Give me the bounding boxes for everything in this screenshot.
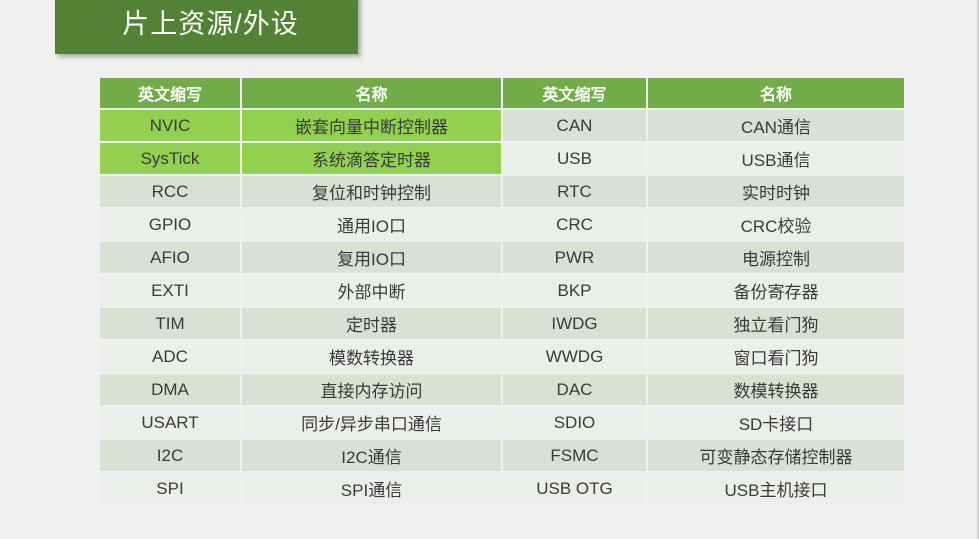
page-title: 片上资源/外设: [122, 11, 299, 38]
cell-right-abbr: USB OTG: [503, 473, 646, 504]
cell-right-abbr: SDIO: [503, 407, 646, 438]
cell-left-abbr: USART: [100, 407, 240, 438]
cell-right-abbr: FSMC: [503, 440, 646, 471]
table-row: I2CI2C通信FSMC可变静态存储控制器: [100, 440, 904, 471]
cell-right-abbr: RTC: [503, 176, 646, 207]
peripheral-table: 英文缩写 名称 英文缩写 名称 NVIC嵌套向量中断控制器CANCAN通信Sys…: [98, 76, 906, 506]
cell-right-abbr: DAC: [503, 374, 646, 405]
cell-left-abbr: EXTI: [100, 275, 240, 306]
column-header-right-abbr: 英文缩写: [503, 78, 646, 108]
cell-right-name: CAN通信: [648, 110, 904, 141]
table-row: TIM定时器IWDG独立看门狗: [100, 308, 904, 339]
cell-left-name: 复位和时钟控制: [242, 176, 501, 207]
table-row: AFIO复用IO口PWR电源控制: [100, 242, 904, 273]
cell-right-name: 备份寄存器: [648, 275, 904, 306]
table-row: GPIO通用IO口CRCCRC校验: [100, 209, 904, 240]
column-header-left-abbr: 英文缩写: [100, 78, 240, 108]
table-body: NVIC嵌套向量中断控制器CANCAN通信SysTick系统滴答定时器USBUS…: [100, 110, 904, 504]
table-row: SPISPI通信USB OTGUSB主机接口: [100, 473, 904, 504]
cell-left-abbr: I2C: [100, 440, 240, 471]
cell-left-name: 同步/异步串口通信: [242, 407, 501, 438]
table-row: ADC模数转换器WWDG窗口看门狗: [100, 341, 904, 372]
table-row: NVIC嵌套向量中断控制器CANCAN通信: [100, 110, 904, 141]
cell-left-abbr: NVIC: [100, 110, 240, 141]
cell-left-abbr: SPI: [100, 473, 240, 504]
cell-left-name: 复用IO口: [242, 242, 501, 273]
slide-canvas: 片上资源/外设 英文缩写 名称 英文缩写 名称 NVIC嵌套向量中断控制器CAN…: [0, 0, 979, 539]
table-row: DMA直接内存访问DAC数模转换器: [100, 374, 904, 405]
cell-right-abbr: CRC: [503, 209, 646, 240]
cell-left-abbr: RCC: [100, 176, 240, 207]
table-row: USART同步/异步串口通信SDIOSD卡接口: [100, 407, 904, 438]
cell-left-abbr: SysTick: [100, 143, 240, 174]
table-row: EXTI外部中断BKP备份寄存器: [100, 275, 904, 306]
cell-left-name: 系统滴答定时器: [242, 143, 501, 174]
table-header: 英文缩写 名称 英文缩写 名称: [100, 78, 904, 108]
cell-left-abbr: TIM: [100, 308, 240, 339]
cell-left-abbr: ADC: [100, 341, 240, 372]
cell-right-abbr: BKP: [503, 275, 646, 306]
cell-right-name: USB通信: [648, 143, 904, 174]
cell-left-name: 模数转换器: [242, 341, 501, 372]
column-header-right-name: 名称: [648, 78, 904, 108]
cell-right-abbr: WWDG: [503, 341, 646, 372]
cell-left-name: 定时器: [242, 308, 501, 339]
cell-left-abbr: GPIO: [100, 209, 240, 240]
cell-right-name: SD卡接口: [648, 407, 904, 438]
cell-right-abbr: IWDG: [503, 308, 646, 339]
cell-left-name: 直接内存访问: [242, 374, 501, 405]
cell-right-name: 窗口看门狗: [648, 341, 904, 372]
cell-left-name: 通用IO口: [242, 209, 501, 240]
cell-left-abbr: DMA: [100, 374, 240, 405]
table-row: SysTick系统滴答定时器USBUSB通信: [100, 143, 904, 174]
cell-left-name: I2C通信: [242, 440, 501, 471]
cell-left-name: 嵌套向量中断控制器: [242, 110, 501, 141]
cell-left-abbr: AFIO: [100, 242, 240, 273]
cell-right-name: 独立看门狗: [648, 308, 904, 339]
cell-right-name: 电源控制: [648, 242, 904, 273]
cell-right-abbr: PWR: [503, 242, 646, 273]
cell-right-abbr: USB: [503, 143, 646, 174]
cell-right-name: USB主机接口: [648, 473, 904, 504]
column-header-left-name: 名称: [242, 78, 501, 108]
table-header-row: 英文缩写 名称 英文缩写 名称: [100, 78, 904, 108]
cell-right-name: 实时时钟: [648, 176, 904, 207]
cell-right-abbr: CAN: [503, 110, 646, 141]
cell-right-name: CRC校验: [648, 209, 904, 240]
slide-title-banner: 片上资源/外设: [55, 0, 358, 54]
table-row: RCC复位和时钟控制RTC实时时钟: [100, 176, 904, 207]
cell-left-name: 外部中断: [242, 275, 501, 306]
cell-right-name: 数模转换器: [648, 374, 904, 405]
cell-left-name: SPI通信: [242, 473, 501, 504]
cell-right-name: 可变静态存储控制器: [648, 440, 904, 471]
